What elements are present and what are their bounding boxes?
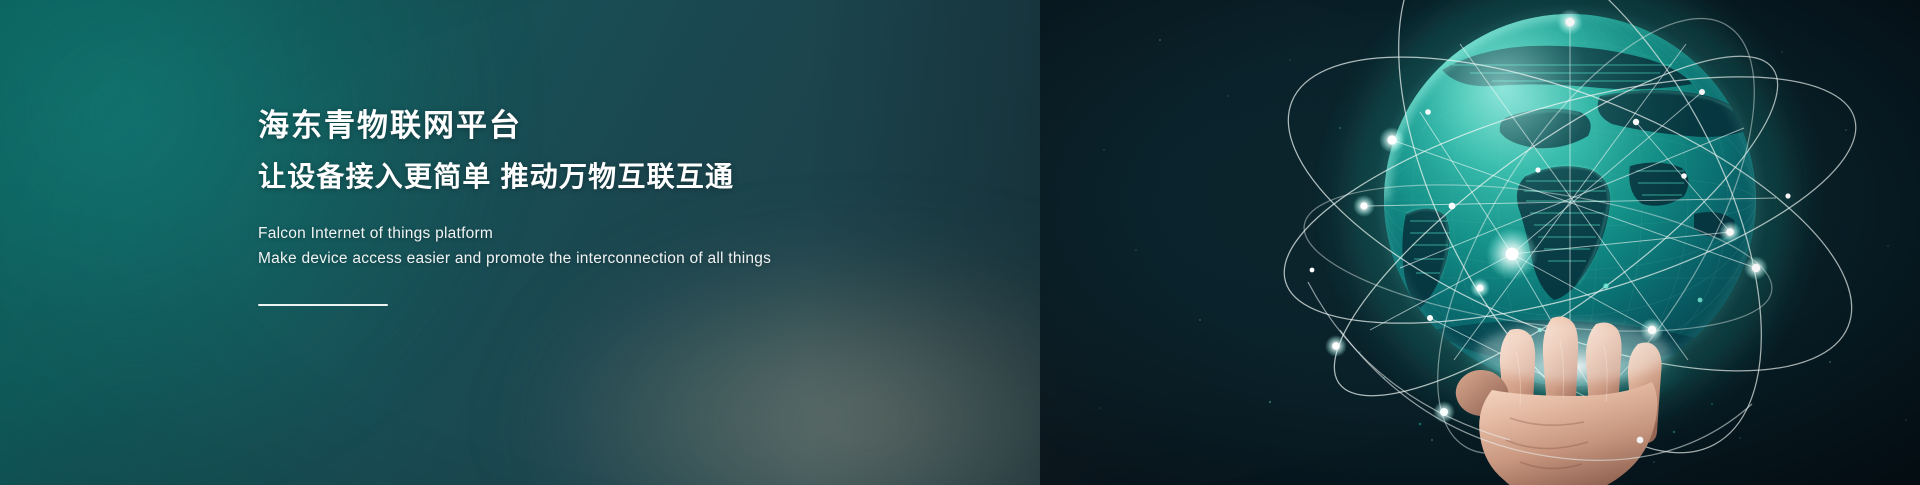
- vignette-overlay: [0, 0, 1920, 485]
- hero-banner: 海东青物联网平台 让设备接入更简单 推动万物互联互通 Falcon Intern…: [0, 0, 1920, 485]
